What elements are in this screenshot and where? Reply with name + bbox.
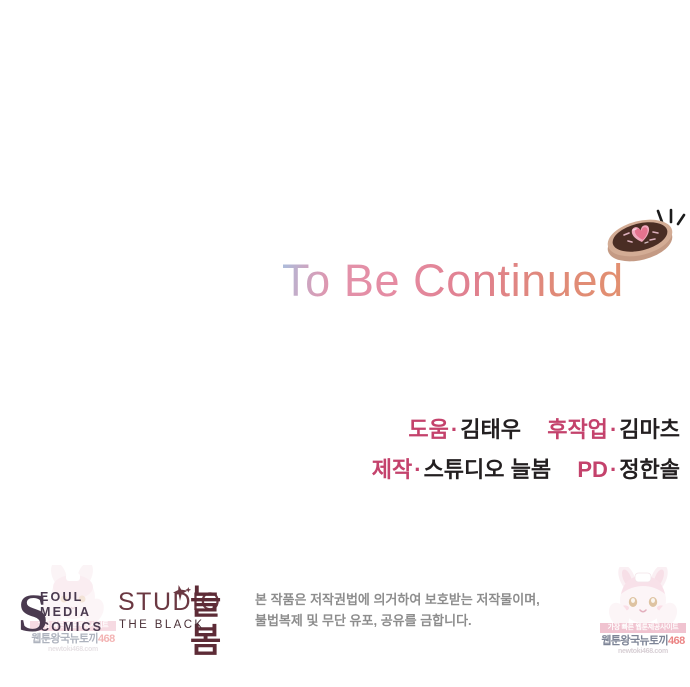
watermark-url-text: newtoki468.com <box>618 648 668 655</box>
credit-separator: · <box>608 457 619 482</box>
credit-line: 도움·김태우 후작업·김마츠 <box>0 410 680 450</box>
watermark-character-art <box>608 567 678 629</box>
credit-name: 김태우 <box>460 417 521 442</box>
smc-line-1: EOUL <box>40 590 118 605</box>
studio-neulbom-logo: STUDIO 늘봄 THE BLACK <box>118 583 246 643</box>
credit-name: 스튜디오 늘봄 <box>424 457 552 482</box>
page-title: To Be Continued <box>282 258 624 303</box>
smc-wordmark: EOUL MEDIA COMICS <box>40 590 118 635</box>
copyright-notice: 본 작품은 저작권법에 의거하여 보호받는 저작물이며, 불법복제 및 무단 유… <box>255 589 555 631</box>
credit-role: 제작 <box>372 457 412 482</box>
watermark-right: 가장 빠른 웹툰제공사이트 웹툰왕국뉴토끼468 newtoki468.com <box>598 567 688 662</box>
smc-line-3: COMICS <box>40 620 118 635</box>
credits-block: 도움·김태우 후작업·김마츠 제작·스튜디오 늘봄 PD·정한솔 <box>0 410 690 490</box>
to-be-continued-block: To Be Continued <box>0 208 690 318</box>
credit-role: 도움 <box>408 417 448 442</box>
footer: 가장 빠른 웹툰제공사이트 웹툰왕국뉴토끼468 newtoki468.com … <box>0 577 690 677</box>
copyright-line-1: 본 작품은 저작권법에 의거하여 보호받는 저작물이며, <box>255 589 555 610</box>
studio-subtitle: THE BLACK <box>119 619 205 632</box>
credit-role: 후작업 <box>547 417 608 442</box>
credit-separator: · <box>449 417 460 442</box>
seoul-media-comics-logo: S EOUL MEDIA COMICS <box>18 582 118 644</box>
smc-line-2: MEDIA <box>40 605 118 620</box>
watermark-brand-number: 468 <box>668 635 685 647</box>
credit-separator: · <box>412 457 423 482</box>
watermark-brand-name: 웹툰왕국뉴토끼 <box>601 635 668 647</box>
credit-name: 정한솔 <box>619 457 680 482</box>
watermark-brand: 웹툰왕국뉴토끼468 <box>600 633 686 648</box>
watermark-url: newtoki468.com <box>600 647 686 656</box>
watermark-tagline: 가장 빠른 웹툰제공사이트 <box>600 623 686 633</box>
credit-role: PD <box>577 457 608 482</box>
credit-name: 김마츠 <box>619 417 680 442</box>
copyright-line-2: 불법복제 및 무단 유포, 공유를 금합니다. <box>255 610 555 631</box>
credit-separator: · <box>608 417 619 442</box>
credit-line: 제작·스튜디오 늘봄 PD·정한솔 <box>0 450 680 490</box>
watermark-url-text: newtoki468.com <box>48 646 98 653</box>
watermark-url: newtoki468.com <box>30 645 116 654</box>
